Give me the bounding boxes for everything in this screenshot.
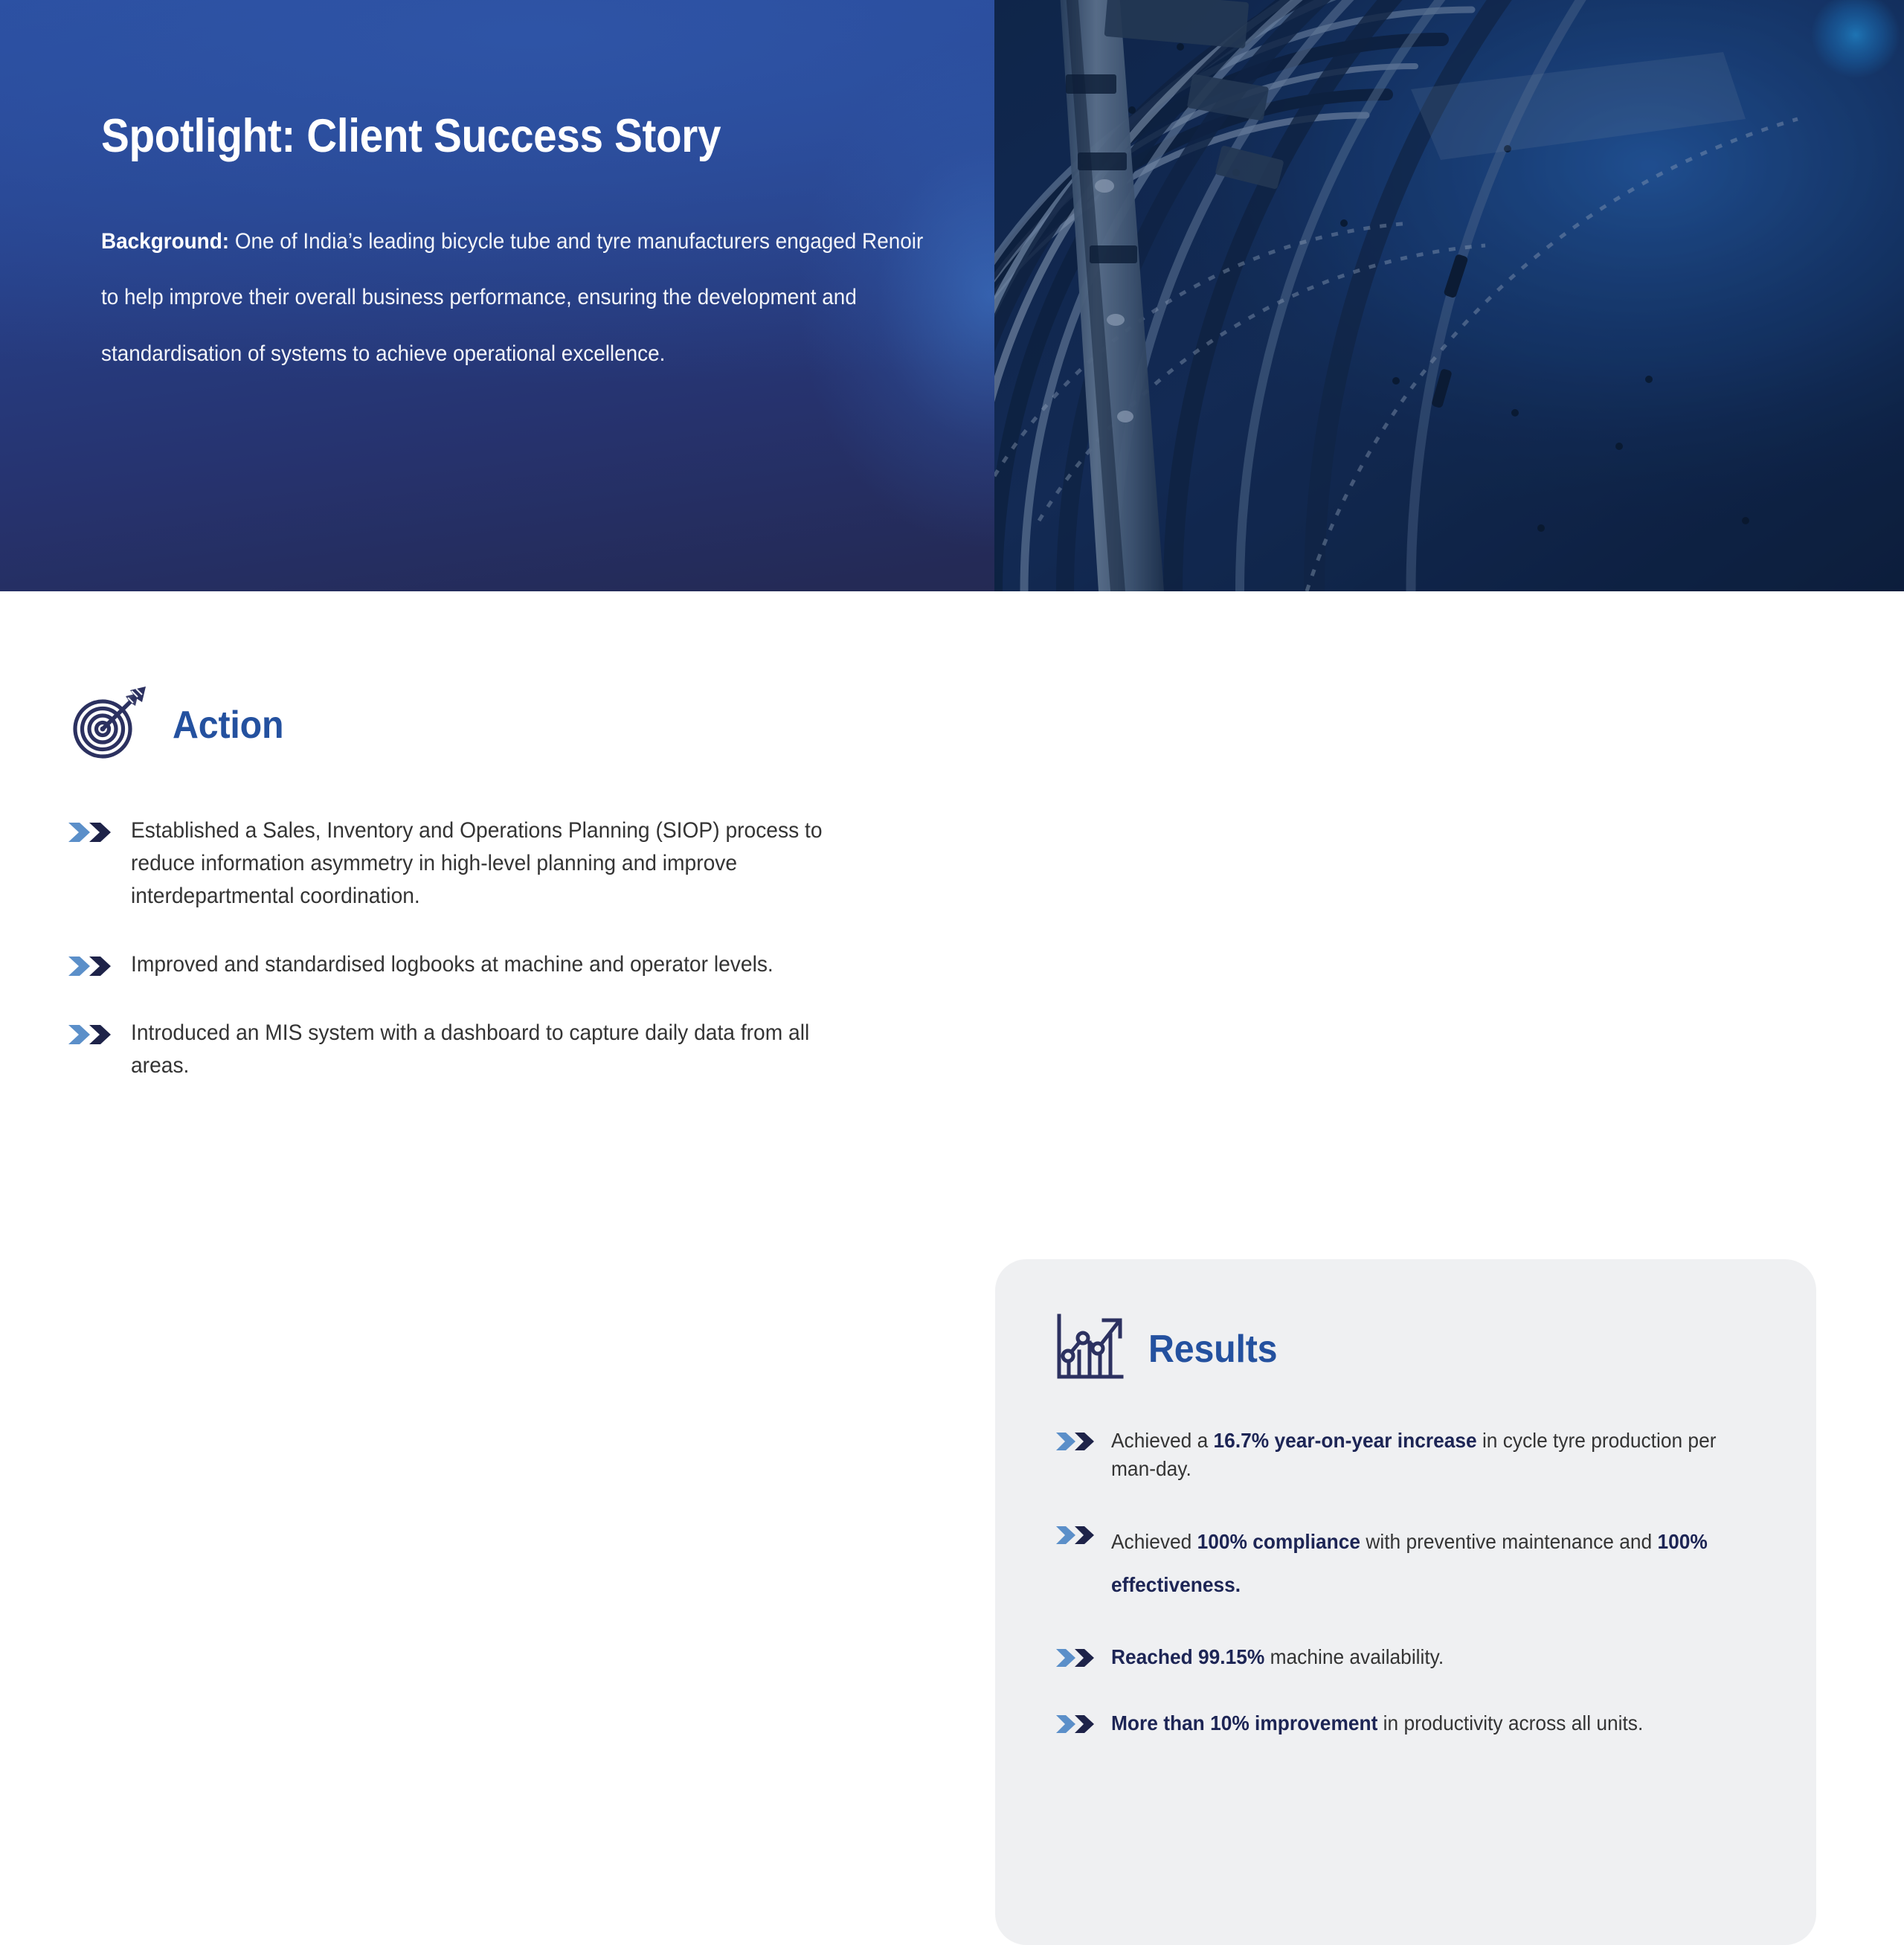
list-item: Improved and standardised logbooks at ma… bbox=[67, 948, 945, 981]
results-title: Results bbox=[1148, 1327, 1277, 1372]
double-chevron-icon bbox=[67, 955, 115, 981]
list-item: Achieved a 16.7% year-on-year increase i… bbox=[1055, 1427, 1772, 1483]
results-bullet-strong: 16.7% year-on-year increase bbox=[1214, 1429, 1477, 1452]
results-card-inner: Results Achieved a 16.7% year-on-year in… bbox=[1055, 1313, 1772, 1738]
content-area: Action Established a Sales, Inventory an… bbox=[0, 591, 1904, 1415]
double-chevron-icon bbox=[1055, 1431, 1098, 1456]
growth-bar-chart-arrow-icon bbox=[1055, 1313, 1126, 1385]
list-item: Introduced an MIS system with a dashboar… bbox=[67, 1017, 945, 1082]
results-bullet-strong: Reached 99.15% bbox=[1111, 1645, 1264, 1668]
results-header: Results bbox=[1055, 1313, 1772, 1385]
hero-banner: Spotlight: Client Success Story Backgrou… bbox=[0, 0, 1904, 591]
action-bullet-list: Established a Sales, Inventory and Opera… bbox=[67, 814, 945, 1083]
results-bullet-pre: Achieved a bbox=[1111, 1429, 1214, 1452]
list-item: Achieved 100% compliance with preventive… bbox=[1055, 1520, 1772, 1606]
hero-background-label: Background: bbox=[101, 229, 229, 254]
hero-background-paragraph: Background: One of India’s leading bicyc… bbox=[101, 161, 924, 382]
bicycle-rims-photo-illustration bbox=[994, 0, 1904, 591]
action-header: Action bbox=[67, 684, 945, 765]
results-card: Results Achieved a 16.7% year-on-year in… bbox=[995, 1259, 1816, 1945]
list-item: More than 10% improvement in productivit… bbox=[1055, 1709, 1772, 1738]
double-chevron-icon bbox=[1055, 1525, 1098, 1549]
double-chevron-icon bbox=[1055, 1714, 1098, 1738]
results-bullet-strong: 100% compliance bbox=[1197, 1530, 1360, 1553]
action-column: Action Established a Sales, Inventory an… bbox=[67, 684, 945, 1083]
results-bullet-post: machine availability. bbox=[1264, 1645, 1444, 1668]
results-bullet-pre: Achieved bbox=[1111, 1530, 1197, 1553]
results-bullet-strong: More than 10% improvement bbox=[1111, 1711, 1377, 1735]
results-bullet-text: More than 10% improvement in productivit… bbox=[1111, 1709, 1732, 1737]
results-bullet-text: Achieved a 16.7% year-on-year increase i… bbox=[1111, 1427, 1732, 1483]
action-bullet-text: Introduced an MIS system with a dashboar… bbox=[131, 1017, 851, 1082]
page-title: Spotlight: Client Success Story bbox=[101, 112, 844, 161]
results-bullet-post: with preventive maintenance and bbox=[1360, 1530, 1657, 1553]
double-chevron-icon bbox=[67, 821, 115, 847]
results-bullet-list: Achieved a 16.7% year-on-year increase i… bbox=[1055, 1427, 1772, 1738]
results-bullet-text: Reached 99.15% machine availability. bbox=[1111, 1643, 1732, 1671]
action-title: Action bbox=[173, 703, 283, 748]
results-bullet-text: Achieved 100% compliance with preventive… bbox=[1111, 1520, 1732, 1606]
hero-photo bbox=[994, 0, 1904, 591]
list-item: Reached 99.15% machine availability. bbox=[1055, 1643, 1772, 1672]
results-bullet-post: in productivity across all units. bbox=[1377, 1711, 1643, 1735]
list-item: Established a Sales, Inventory and Opera… bbox=[67, 814, 945, 913]
double-chevron-icon bbox=[67, 1023, 115, 1049]
double-chevron-icon bbox=[1055, 1647, 1098, 1672]
target-bullseye-arrow-icon bbox=[67, 684, 150, 765]
action-bullet-text: Established a Sales, Inventory and Opera… bbox=[131, 814, 851, 913]
hero-text-block: Spotlight: Client Success Story Backgrou… bbox=[101, 112, 927, 382]
action-bullet-text: Improved and standardised logbooks at ma… bbox=[131, 948, 851, 981]
